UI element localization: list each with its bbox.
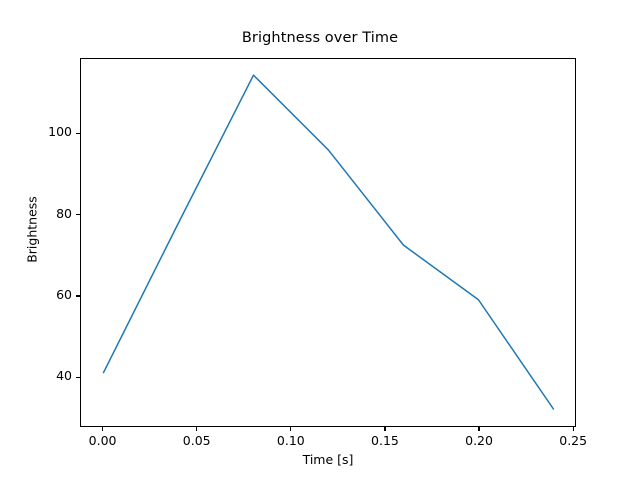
y-tick-mark — [76, 214, 80, 215]
y-tick-label: 60 — [12, 287, 72, 302]
plot-axes-frame — [80, 58, 576, 427]
y-tick-label: 80 — [12, 206, 72, 221]
x-tick-mark — [573, 427, 574, 431]
x-tick-label: 0.05 — [157, 433, 237, 448]
brightness-line-series — [103, 75, 553, 409]
x-tick-mark — [290, 427, 291, 431]
chart-title: Brightness over Time — [0, 30, 640, 46]
y-axis-label: Brightness — [25, 130, 40, 330]
x-tick-label: 0.10 — [251, 433, 331, 448]
y-tick-label: 100 — [12, 124, 72, 139]
x-tick-mark — [384, 427, 385, 431]
y-tick-label: 40 — [12, 368, 72, 383]
figure-canvas: Brightness over Time 0.000.050.100.150.2… — [0, 0, 640, 480]
line-chart-svg — [81, 59, 575, 426]
y-tick-mark — [76, 295, 80, 296]
y-tick-mark — [76, 377, 80, 378]
x-tick-label: 0.00 — [63, 433, 143, 448]
x-tick-mark — [478, 427, 479, 431]
y-tick-mark — [76, 133, 80, 134]
x-tick-mark — [196, 427, 197, 431]
x-tick-label: 0.15 — [345, 433, 425, 448]
x-tick-mark — [102, 427, 103, 431]
x-tick-label: 0.25 — [533, 433, 613, 448]
x-axis-label: Time [s] — [80, 452, 576, 467]
x-tick-label: 0.20 — [439, 433, 519, 448]
